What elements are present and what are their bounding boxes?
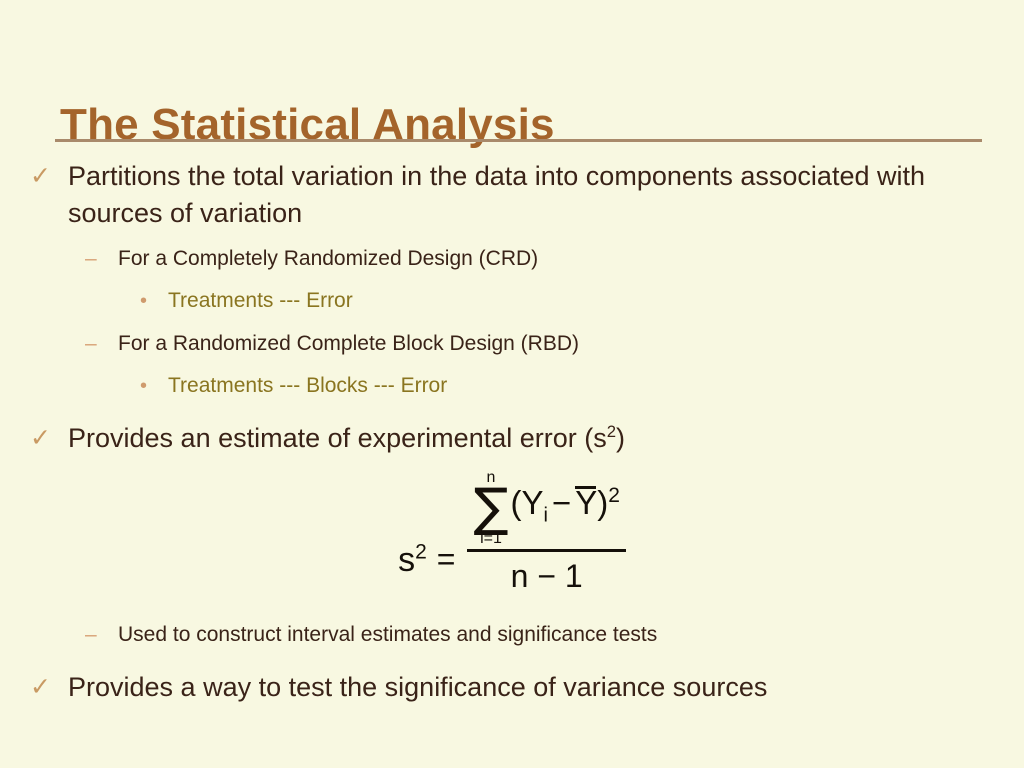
spacer [0, 275, 1024, 285]
bullet-item-crd: – For a Completely Randomized Design (CR… [0, 242, 1024, 275]
dot-icon: • [140, 285, 168, 317]
dash-icon: – [85, 242, 118, 275]
bullet-text-after: ) [616, 423, 625, 453]
bullet-text-superscript: 2 [607, 422, 616, 441]
formula-lhs: s2 [398, 491, 437, 577]
formula-fraction: n ∑ i=1 (Yi−Y)2 n − 1 [467, 470, 626, 597]
check-icon: ✓ [30, 158, 68, 195]
numerator-exponent: 2 [608, 484, 620, 507]
dash-icon: – [85, 618, 118, 651]
formula-lhs-symbol: s [398, 541, 415, 579]
bullet-text-before: Provides an estimate of experimental err… [68, 423, 607, 453]
bullet-text: Used to construct interval estimates and… [118, 618, 1024, 651]
bullet-text: For a Completely Randomized Design (CRD) [118, 242, 1024, 275]
formula-numerator: n ∑ i=1 (Yi−Y)2 [467, 470, 626, 549]
dash-icon: – [85, 327, 118, 360]
minus-sign: − [548, 484, 575, 521]
slide-body: ✓ Partitions the total variation in the … [0, 158, 1024, 457]
title-divider [55, 139, 982, 142]
close-paren: ) [597, 484, 608, 521]
formula-denominator: n − 1 [511, 552, 583, 597]
bullet-text: Treatments --- Error [168, 285, 1024, 317]
spacer [0, 317, 1024, 327]
formula-expression: s2 = n ∑ i=1 (Yi−Y)2 n − 1 [398, 470, 626, 597]
slide-body-lower: – Used to construct interval estimates a… [0, 618, 1024, 706]
bullet-text: Provides a way to test the significance … [68, 669, 948, 706]
bullet-text: Treatments --- Blocks --- Error [168, 370, 1024, 402]
dot-icon: • [140, 370, 168, 402]
summation-operator: n ∑ i=1 [473, 470, 508, 547]
bullet-text: Provides an estimate of experimental err… [68, 420, 948, 457]
check-icon: ✓ [30, 669, 68, 706]
summation-lower-limit: i=1 [480, 531, 502, 547]
bullet-item-partitions: ✓ Partitions the total variation in the … [0, 158, 1024, 232]
slide: The Statistical Analysis ✓ Partitions th… [0, 0, 1024, 768]
numerator-mean: Y [575, 485, 597, 520]
bullet-item-test-significance: ✓ Provides a way to test the significanc… [0, 669, 1024, 706]
bullet-item-crd-sources: • Treatments --- Error [0, 285, 1024, 317]
bullet-item-rbd: – For a Randomized Complete Block Design… [0, 327, 1024, 360]
sigma-icon: ∑ [473, 485, 508, 531]
page-title: The Statistical Analysis [60, 97, 555, 153]
numerator-variable: Y [521, 484, 543, 521]
check-icon: ✓ [30, 420, 68, 457]
spacer [0, 651, 1024, 669]
bullet-item-rbd-sources: • Treatments --- Blocks --- Error [0, 370, 1024, 402]
spacer [0, 402, 1024, 420]
bullet-item-interval-estimates: – Used to construct interval estimates a… [0, 618, 1024, 651]
open-paren: ( [510, 484, 521, 521]
formula-equals: = [437, 489, 468, 578]
formula-lhs-exponent: 2 [415, 540, 427, 563]
bullet-text: For a Randomized Complete Block Design (… [118, 327, 1024, 360]
spacer [0, 232, 1024, 242]
bullet-text: Partitions the total variation in the da… [68, 158, 948, 232]
bullet-item-estimate: ✓ Provides an estimate of experimental e… [0, 420, 1024, 457]
spacer [0, 360, 1024, 370]
variance-formula: s2 = n ∑ i=1 (Yi−Y)2 n − 1 [0, 470, 1024, 597]
summation-body: (Yi−Y)2 [510, 485, 619, 532]
